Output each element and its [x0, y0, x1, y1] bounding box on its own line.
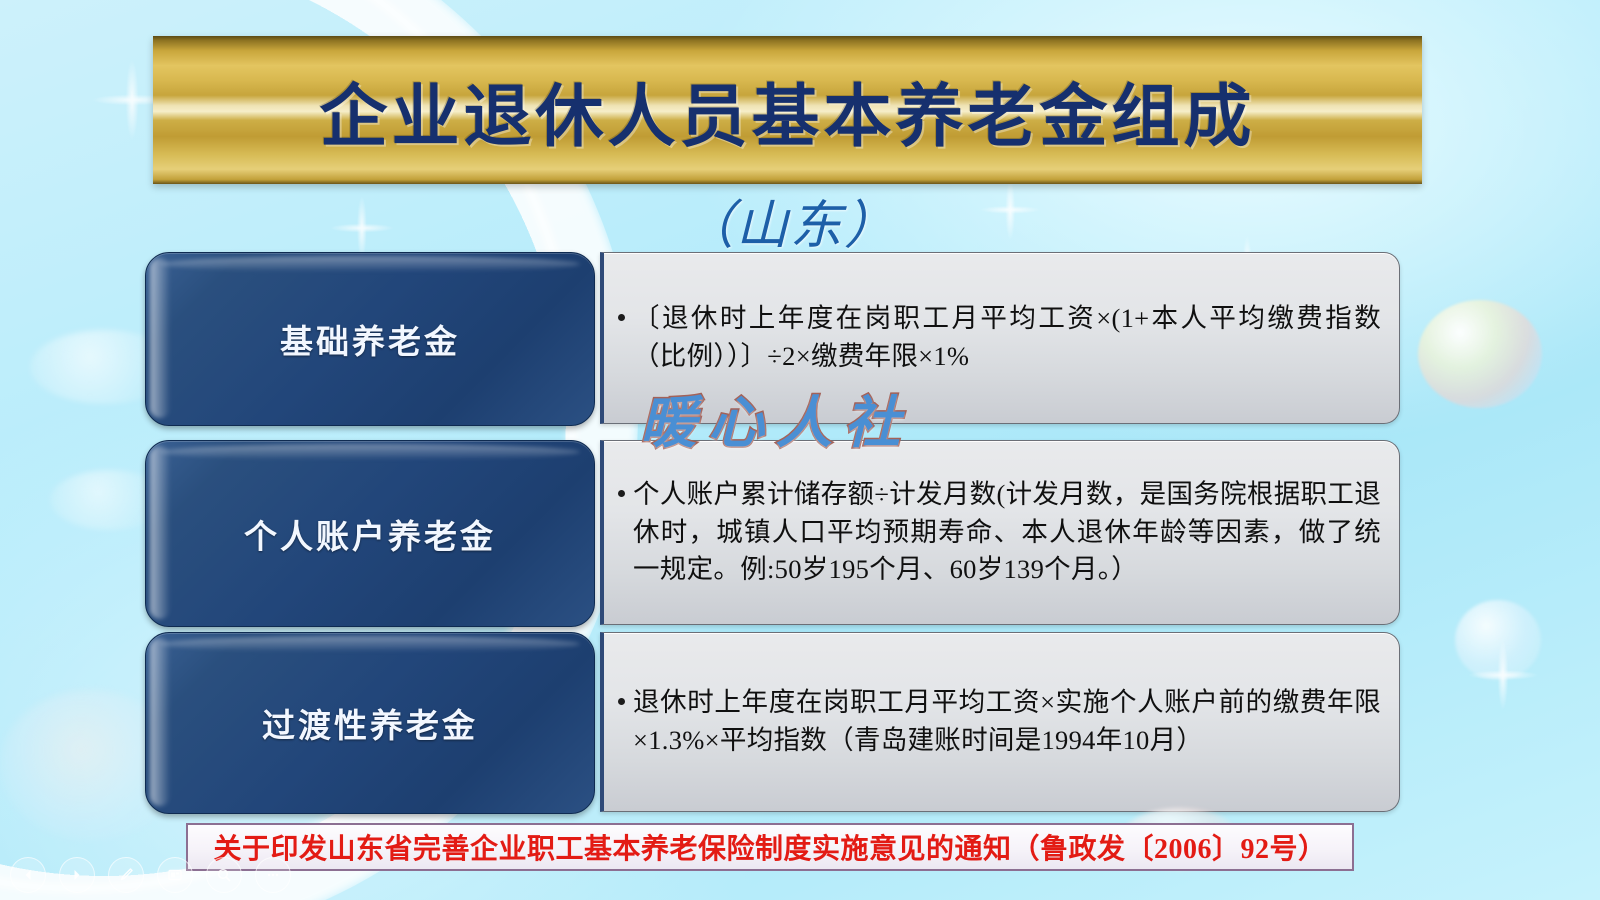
- pen-icon[interactable]: [108, 857, 144, 893]
- content-row: 过渡性养老金 退休时上年度在岗职工月平均工资×实施个人账户前的缴费年限×1.3%…: [145, 632, 1400, 812]
- bullet-icon: [618, 314, 625, 321]
- bullet-icon: [618, 698, 625, 705]
- pension-formula-text: 〔退休时上年度在岗职工月平均工资×(1+本人平均缴费指数（比例））〕÷2×缴费年…: [633, 300, 1381, 375]
- pension-formula-text: 个人账户累计储存额÷计发月数(计发月数，是国务院根据职工退休时，城镇人口平均预期…: [633, 476, 1381, 589]
- more-icon[interactable]: [255, 857, 291, 893]
- bullet-icon: [618, 490, 625, 497]
- presentation-toolbar: [10, 855, 291, 895]
- next-slide-icon[interactable]: [59, 857, 95, 893]
- title-banner: 企业退休人员基本养老金组成: [153, 36, 1422, 184]
- content-row: 基础养老金 〔退休时上年度在岗职工月平均工资×(1+本人平均缴费指数（比例））〕…: [145, 252, 1400, 424]
- zoom-icon[interactable]: [206, 857, 242, 893]
- pension-category-box-transitional[interactable]: 过渡性养老金: [145, 632, 595, 814]
- pension-formula-text: 退休时上年度在岗职工月平均工资×实施个人账户前的缴费年限×1.3%×平均指数（青…: [633, 684, 1381, 759]
- footer-document-reference: 关于印发山东省完善企业职工基本养老保险制度实施意见的通知（鲁政发〔2006〕92…: [213, 827, 1326, 867]
- content-row: 个人账户养老金 个人账户累计储存额÷计发月数(计发月数，是国务院根据职工退休时，…: [145, 440, 1400, 625]
- previous-slide-icon[interactable]: [10, 857, 46, 893]
- pension-category-box-personal-account[interactable]: 个人账户养老金: [145, 440, 595, 627]
- footer-banner: 关于印发山东省完善企业职工基本养老保险制度实施意见的通知（鲁政发〔2006〕92…: [186, 823, 1354, 871]
- pension-formula-panel-transitional: 退休时上年度在岗职工月平均工资×实施个人账户前的缴费年限×1.3%×平均指数（青…: [600, 632, 1400, 812]
- pension-category-label: 基础养老金: [280, 315, 460, 363]
- pension-formula-panel-basic: 〔退休时上年度在岗职工月平均工资×(1+本人平均缴费指数（比例））〕÷2×缴费年…: [600, 252, 1400, 424]
- pension-formula-panel-personal-account: 个人账户累计储存额÷计发月数(计发月数，是国务院根据职工退休时，城镇人口平均预期…: [600, 440, 1400, 625]
- subtitle: （山东）: [660, 183, 920, 258]
- page-title: 企业退休人员基本养老金组成: [319, 61, 1255, 160]
- slideshow-icon[interactable]: [157, 857, 193, 893]
- pension-category-label: 个人账户养老金: [244, 510, 496, 558]
- pension-category-box-basic[interactable]: 基础养老金: [145, 252, 595, 426]
- pension-category-label: 过渡性养老金: [262, 699, 478, 747]
